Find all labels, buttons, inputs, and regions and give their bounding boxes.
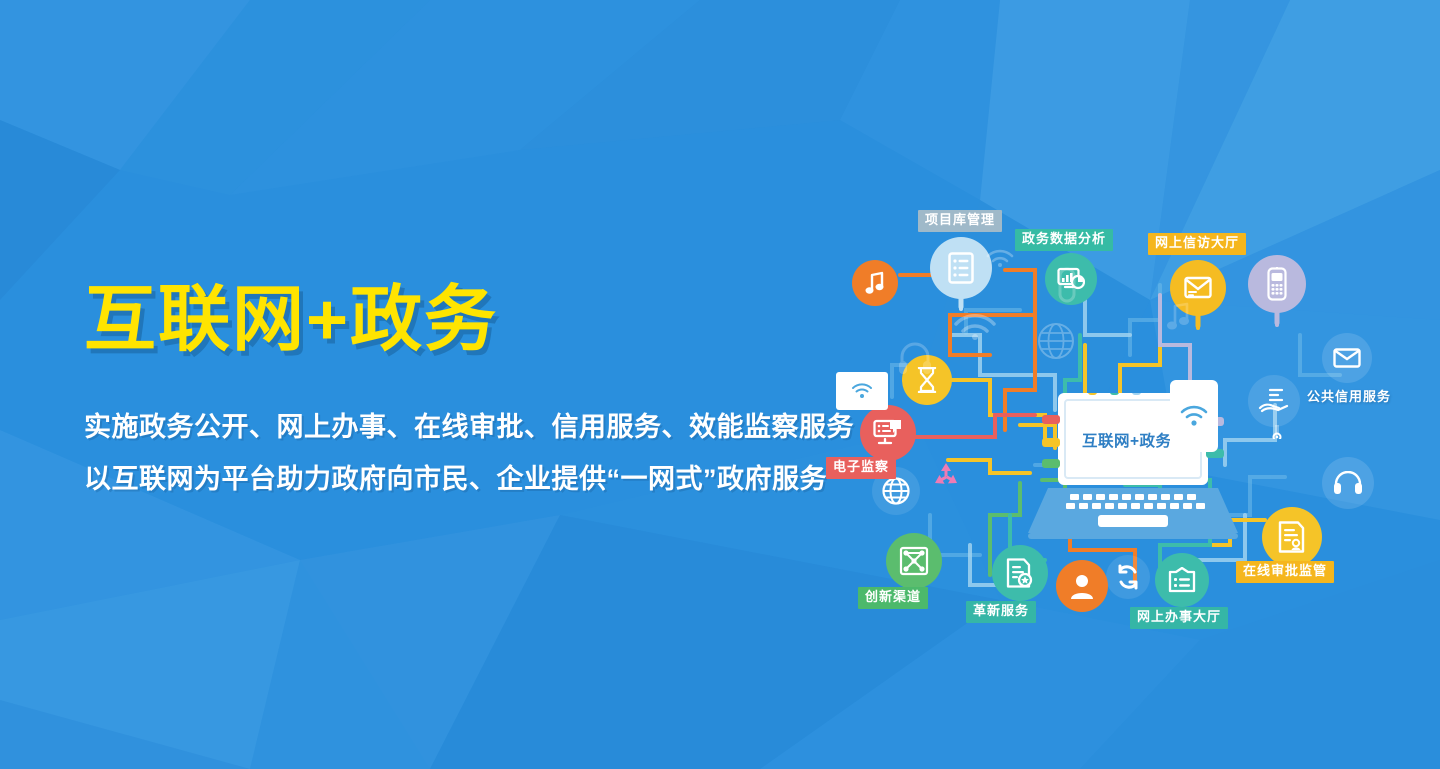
page-title: 互联网+政务 xyxy=(84,283,784,358)
node-stem xyxy=(1272,425,1282,439)
wifi-tablet-icon xyxy=(1180,405,1208,427)
label-data-analysis: 政务数据分析 xyxy=(1015,229,1113,251)
mail-icon xyxy=(1333,348,1361,368)
label-approval-supervision: 在线审批监管 xyxy=(1236,561,1334,583)
mobile-phone-icon xyxy=(1267,267,1287,301)
laptop-screen-label: 互联网+政务 xyxy=(1082,429,1172,451)
monitor-chat-icon xyxy=(873,419,903,447)
hero-subtitle-line-1: 实施政务公开、网上办事、在线审批、信用服务、效能监察服务 xyxy=(84,414,784,441)
node-document-list[interactable] xyxy=(930,237,992,299)
hero-subtitle-line-2: 以互联网为平台助力政府向市民、企业提供“一网式”政府服务 xyxy=(84,466,784,493)
label-innovation-channel: 创新渠道 xyxy=(858,587,928,609)
music-note-decor-icon xyxy=(1166,301,1192,331)
music-note-icon xyxy=(865,271,885,295)
recycle-icon xyxy=(932,462,960,488)
banner-root: 互联网+政务 实施政务公开、网上办事、在线审批、信用服务、效能监察服务 以互联网… xyxy=(0,0,1440,769)
node-wifi-tablet[interactable] xyxy=(1170,380,1218,452)
node-approval-supervision[interactable] xyxy=(1262,507,1322,567)
node-stem xyxy=(956,297,966,311)
node-refresh-sync[interactable] xyxy=(1106,555,1150,599)
node-recycle[interactable] xyxy=(926,455,966,495)
user-person-icon xyxy=(1070,573,1094,599)
wifi-card-icon xyxy=(851,383,873,399)
network-graph-icon xyxy=(899,546,929,576)
label-innovation-service: 革新服务 xyxy=(966,601,1036,623)
node-stem xyxy=(1189,451,1201,467)
clip-decor-icon xyxy=(1058,267,1076,303)
label-online-petition: 网上信访大厅 xyxy=(1148,233,1246,255)
illustration: 互联网+政务 项目库管理 xyxy=(830,215,1430,635)
node-innovation-service[interactable] xyxy=(992,545,1048,601)
form-list-icon xyxy=(1168,567,1196,593)
node-stem xyxy=(1193,314,1203,330)
node-headphones[interactable] xyxy=(1322,457,1374,509)
hero-copy: 互联网+政务 实施政务公开、网上办事、在线审批、信用服务、效能监察服务 以互联网… xyxy=(84,283,784,493)
node-stem xyxy=(1272,311,1282,327)
node-mobile-phone[interactable] xyxy=(1248,255,1306,313)
label-public-credit: 公共信用服务 xyxy=(1300,387,1398,409)
node-music-note[interactable] xyxy=(852,260,898,306)
credit-hand-icon xyxy=(1258,387,1290,415)
certificate-icon xyxy=(1006,558,1034,588)
node-innovation-channel[interactable] xyxy=(886,533,942,589)
node-public-credit[interactable] xyxy=(1248,375,1300,427)
globe-icon xyxy=(882,477,910,505)
approval-doc-icon xyxy=(1278,521,1306,553)
label-project-library: 项目库管理 xyxy=(918,210,1002,232)
headphones-icon xyxy=(1333,471,1363,495)
label-online-service-hall: 网上办事大厅 xyxy=(1130,607,1228,629)
node-globe-outline-decor xyxy=(1030,315,1082,367)
node-mail[interactable] xyxy=(1322,333,1372,383)
wifi-signal-icon xyxy=(952,310,998,340)
wifi-signal-small-icon xyxy=(985,247,1015,267)
globe-outline-icon xyxy=(1037,322,1075,360)
document-list-icon xyxy=(948,252,974,284)
envelope-icon xyxy=(1184,276,1212,300)
node-user-person[interactable] xyxy=(1056,560,1108,612)
node-wifi-card[interactable] xyxy=(836,372,888,410)
headphones-decor-icon xyxy=(898,337,932,377)
node-online-service-hall[interactable] xyxy=(1155,553,1209,607)
node-electronic-supervision[interactable] xyxy=(860,405,916,461)
label-electronic-supervision: 电子监察 xyxy=(826,457,896,479)
refresh-sync-icon xyxy=(1115,564,1141,590)
